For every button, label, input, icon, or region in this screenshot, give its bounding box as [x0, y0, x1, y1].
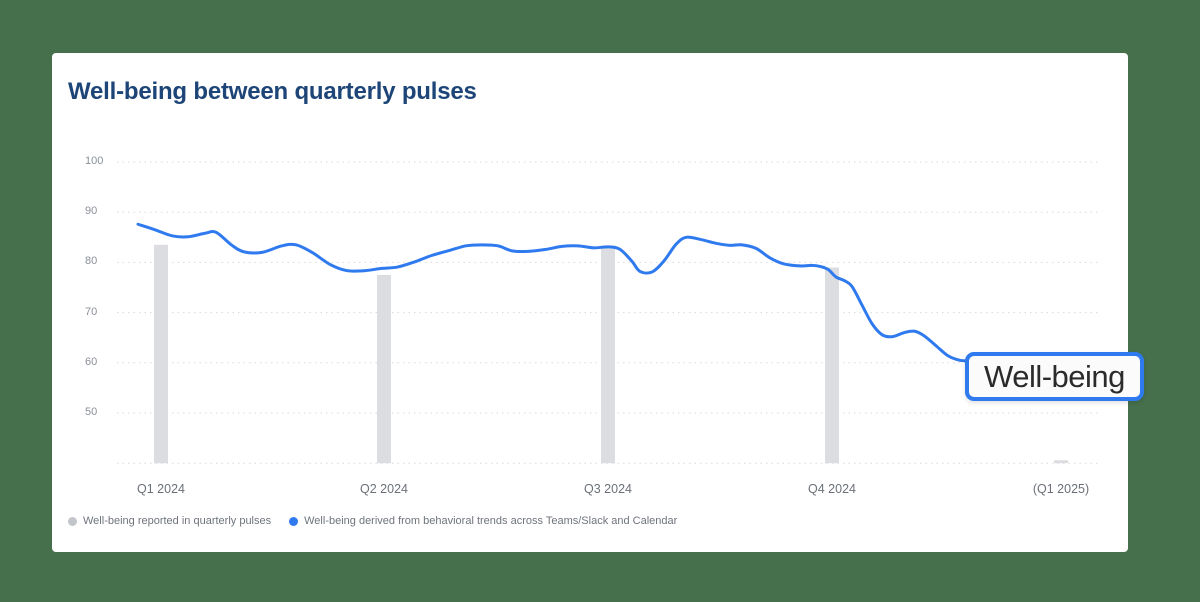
legend-item-label: Well-being derived from behavioral trend… — [304, 515, 677, 527]
chart-line-series — [138, 224, 972, 361]
chart-legend: Well-being reported in quarterly pulses … — [68, 515, 677, 527]
legend-item-label: Well-being reported in quarterly pulses — [83, 515, 271, 527]
legend-item: Well-being derived from behavioral trend… — [289, 515, 677, 527]
chart-plot-area: 1009080706050 Q1 2024Q2 2024Q3 2024Q4 20… — [52, 53, 1128, 552]
x-axis-tick-label: Q2 2024 — [360, 482, 408, 496]
chart-card: Well-being between quarterly pulses 1009… — [52, 53, 1128, 552]
y-axis-tick-label: 80 — [85, 255, 97, 267]
x-axis-tick-label: Q3 2024 — [584, 482, 632, 496]
legend-dot-icon — [68, 517, 77, 526]
y-axis-tick-label: 60 — [85, 356, 97, 368]
chart-bar — [601, 247, 615, 463]
x-axis-tick-label: Q4 2024 — [808, 482, 856, 496]
y-axis-tick-label: 50 — [85, 406, 97, 418]
x-axis-tick-label: (Q1 2025) — [1033, 482, 1089, 496]
callout-label: Well-being — [984, 361, 1125, 392]
chart-svg — [52, 53, 1128, 552]
chart-bar — [377, 275, 391, 463]
chart-bar — [154, 245, 168, 463]
x-axis-tick-label: Q1 2024 — [137, 482, 185, 496]
y-axis-tick-label: 90 — [85, 205, 97, 217]
screenshot-root: Well-being between quarterly pulses 1009… — [0, 0, 1200, 602]
chart-bars-series — [154, 245, 1068, 463]
y-axis-tick-label: 100 — [85, 155, 103, 167]
chart-bar — [1054, 460, 1068, 463]
legend-dot-icon — [289, 517, 298, 526]
chart-bar — [825, 267, 839, 463]
well-being-callout-badge[interactable]: Well-being — [965, 352, 1144, 401]
legend-item: Well-being reported in quarterly pulses — [68, 515, 271, 527]
y-axis-tick-label: 70 — [85, 306, 97, 318]
